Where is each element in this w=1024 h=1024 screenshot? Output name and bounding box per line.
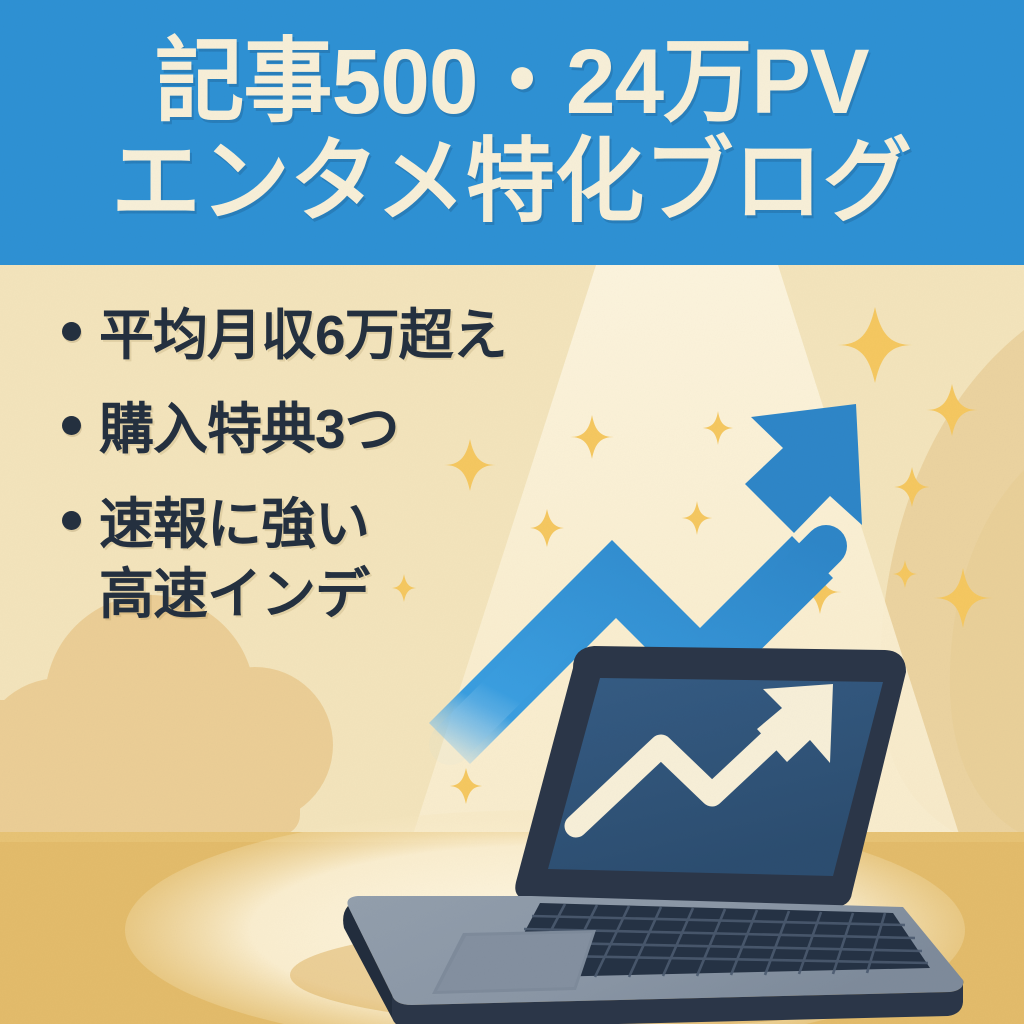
header-band: 記事500・24万PV エンタメ特化ブログ (0, 0, 1024, 265)
bullet-label: 平均月収6万超え (99, 300, 507, 370)
bullet-label: 購入特典3つ (99, 394, 399, 464)
promo-poster: 記事500・24万PV エンタメ特化ブログ 平均月収6万超え 購入特典3つ 速報… (0, 0, 1024, 1024)
bullet-item: 購入特典3つ (62, 394, 582, 464)
bullet-label: 速報に強い 高速インデ (99, 489, 369, 630)
bullet-dot-icon (62, 511, 81, 530)
bullet-item: 平均月収6万超え (62, 300, 582, 370)
bullet-dot-icon (62, 416, 81, 435)
title-line-1: 記事500・24万PV (155, 34, 868, 132)
title-line-2: エンタメ特化ブログ (112, 134, 912, 232)
bullet-dot-icon (62, 322, 81, 341)
bullet-item: 速報に強い 高速インデ (62, 489, 582, 630)
feature-bullet-list: 平均月収6万超え 購入特典3つ 速報に強い 高速インデ (62, 300, 582, 654)
